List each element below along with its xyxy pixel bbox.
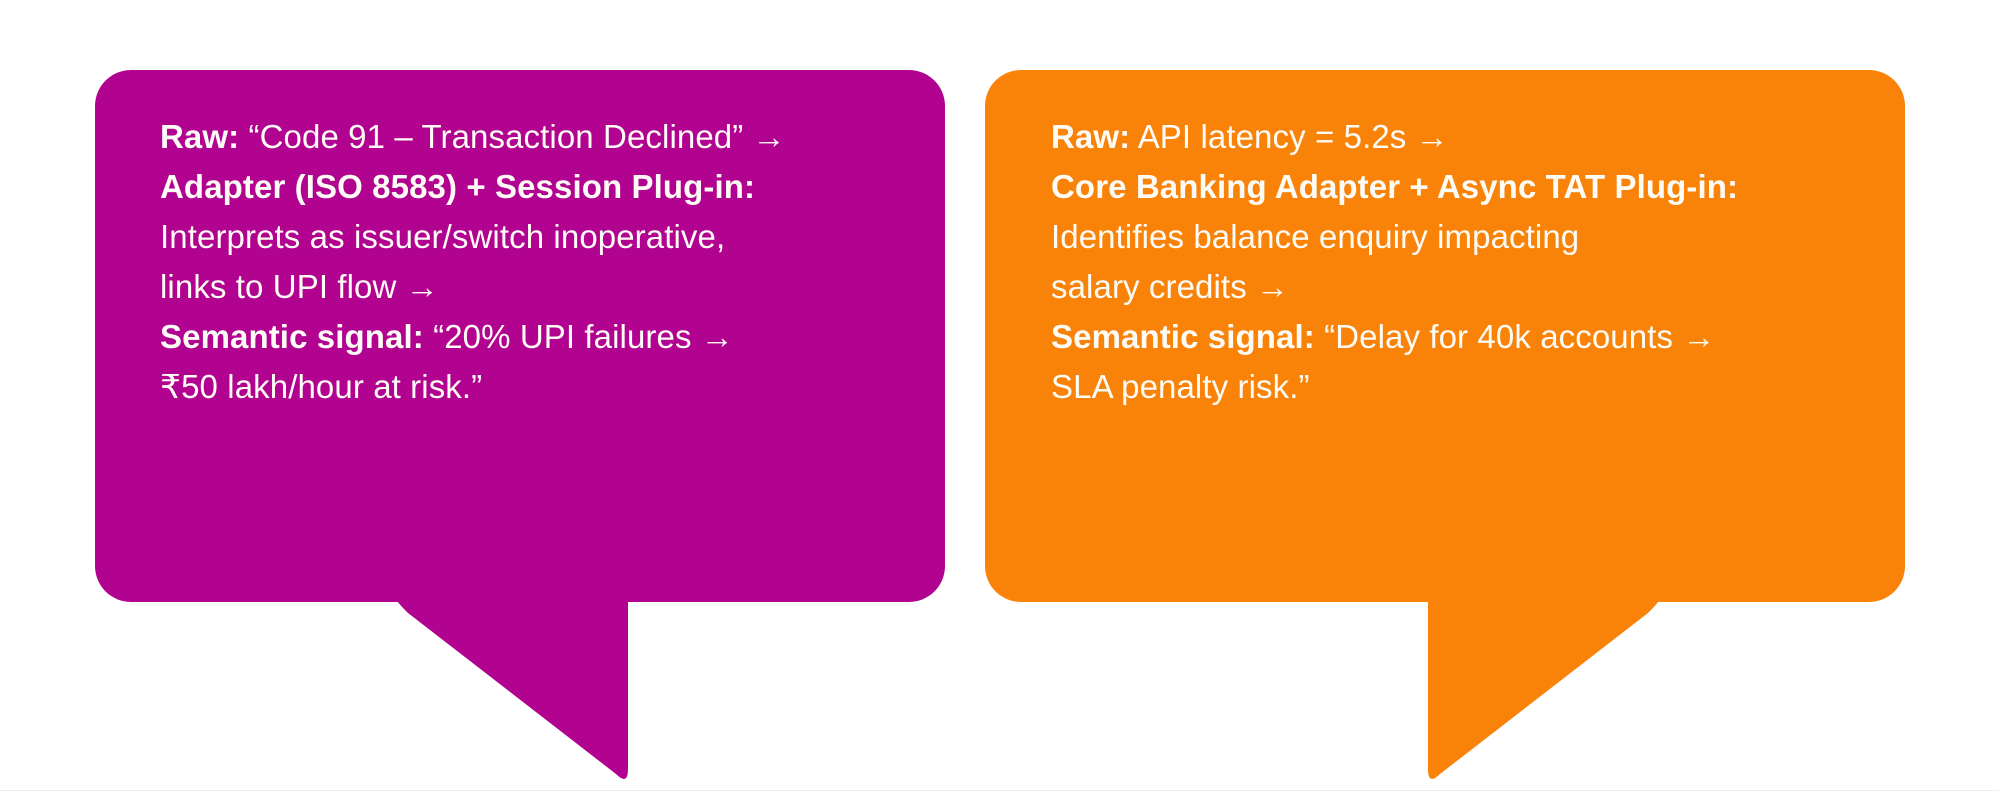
bubble-line: Adapter (ISO 8583) + Session Plug-in: [160, 162, 950, 212]
bubble-line-label: Adapter (ISO 8583) + Session Plug-in: [160, 168, 755, 205]
bubble-line: ₹50 lakh/hour at risk.” [160, 362, 950, 412]
bubble-line-text: “20% UPI failures → [424, 318, 734, 355]
bubble-line-text: SLA penalty risk.” [1051, 368, 1310, 405]
bubble-line: salary credits → [1051, 262, 1911, 312]
bubble-tail-magenta-icon [398, 601, 628, 786]
bubble-line-text: ₹50 lakh/hour at risk.” [160, 368, 482, 405]
bubble-line-label: Raw: [160, 118, 239, 155]
bubble-line-text: salary credits → [1051, 268, 1289, 305]
bubble-line-label: Semantic signal: [1051, 318, 1315, 355]
bubble-line: Raw: “Code 91 – Transaction Declined” → [160, 112, 950, 162]
bubble-line: Core Banking Adapter + Async TAT Plug-in… [1051, 162, 1911, 212]
bubble-line: Identifies balance enquiry impacting [1051, 212, 1911, 262]
bubble-line-text: Identifies balance enquiry impacting [1051, 218, 1579, 255]
bubble-line-label: Semantic signal: [160, 318, 424, 355]
bubble-text-magenta: Raw: “Code 91 – Transaction Declined” → … [160, 112, 950, 412]
bubble-line: Raw: API latency = 5.2s → [1051, 112, 1911, 162]
bubble-line: Interprets as issuer/switch inoperative, [160, 212, 950, 262]
bubble-line: Semantic signal: “20% UPI failures → [160, 312, 950, 362]
bubble-line-text: Interprets as issuer/switch inoperative, [160, 218, 725, 255]
bubble-line-label: Core Banking Adapter + Async TAT Plug-in… [1051, 168, 1738, 205]
bottom-divider [0, 790, 1999, 791]
bubble-line: SLA penalty risk.” [1051, 362, 1911, 412]
bubble-line-label: Raw: [1051, 118, 1130, 155]
bubble-text-orange: Raw: API latency = 5.2s → Core Banking A… [1051, 112, 1911, 412]
bubble-tail-orange-icon [1428, 601, 1658, 786]
bubble-line-text: “Delay for 40k accounts → [1315, 318, 1716, 355]
bubble-line-text: links to UPI flow → [160, 268, 439, 305]
bubble-line: Semantic signal: “Delay for 40k accounts… [1051, 312, 1911, 362]
bubble-line: links to UPI flow → [160, 262, 950, 312]
bubble-line-text: “Code 91 – Transaction Declined” → [239, 118, 785, 155]
canvas: Raw: “Code 91 – Transaction Declined” → … [0, 0, 1999, 794]
bubble-line-text: API latency = 5.2s → [1130, 118, 1449, 155]
